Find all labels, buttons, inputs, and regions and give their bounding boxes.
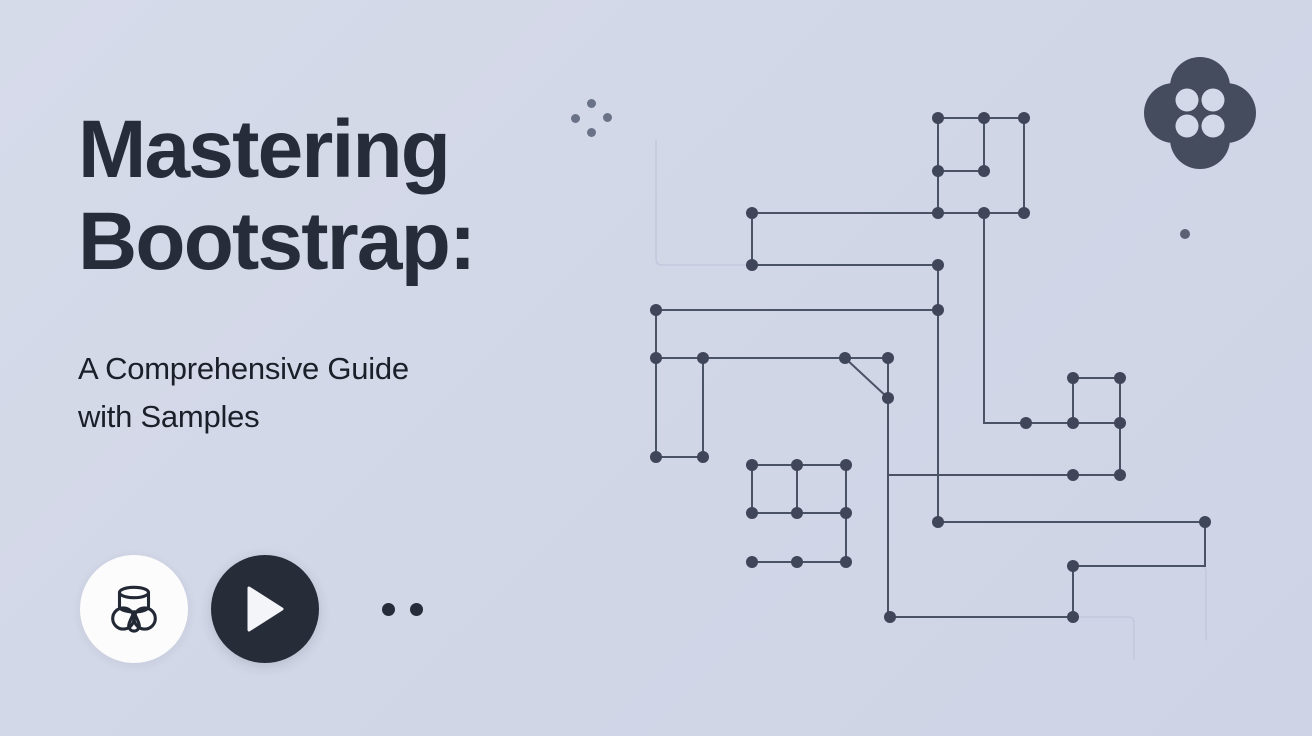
hero-text-block: Mastering Bootstrap: — [78, 104, 638, 288]
circuit-node — [791, 459, 803, 471]
circuit-node — [746, 556, 758, 568]
circuit-edge — [1073, 522, 1205, 566]
play-icon — [243, 585, 287, 633]
circuit-node — [932, 207, 944, 219]
circuit-node — [840, 507, 852, 519]
circuit-node — [697, 352, 709, 364]
pager-dot-2[interactable] — [410, 603, 423, 616]
circuit-edges — [656, 118, 1205, 617]
circuit-node — [1018, 207, 1030, 219]
sparkle-dot-bottom — [587, 128, 596, 137]
circuit-diagram — [630, 80, 1250, 660]
sparkle-dot-left — [571, 114, 580, 123]
circuit-node — [791, 556, 803, 568]
circuit-node — [978, 112, 990, 124]
circuit-node — [791, 507, 803, 519]
pager-dots[interactable] — [382, 603, 423, 616]
circuit-node — [1067, 372, 1079, 384]
circuit-node — [1067, 611, 1079, 623]
sparkle-dot-top — [587, 99, 596, 108]
circuit-edge — [888, 358, 1073, 475]
circuit-node — [1067, 469, 1079, 481]
circuit-node — [650, 352, 662, 364]
circuit-edge — [984, 213, 1026, 423]
sparkle-dots-cluster — [560, 90, 624, 154]
circuit-node — [932, 112, 944, 124]
circuit-node — [1199, 516, 1211, 528]
circuit-node — [746, 459, 758, 471]
sparkle-dot-right — [603, 113, 612, 122]
bootstrap-boot-icon — [102, 577, 166, 641]
circuit-node — [746, 507, 758, 519]
circuit-node — [840, 459, 852, 471]
circuit-node — [650, 304, 662, 316]
circuit-node — [650, 451, 662, 463]
circuit-node — [1018, 112, 1030, 124]
faint-traces — [656, 140, 1206, 660]
circuit-node — [1067, 417, 1079, 429]
circuit-node — [1114, 372, 1126, 384]
circuit-node — [932, 259, 944, 271]
circuit-node — [932, 304, 944, 316]
circuit-node — [884, 611, 896, 623]
circuit-nodes — [650, 112, 1211, 623]
badge-row — [80, 554, 423, 664]
circuit-node — [882, 392, 894, 404]
circuit-node — [978, 165, 990, 177]
circuit-node — [1114, 417, 1126, 429]
circuit-node — [746, 207, 758, 219]
poster-canvas: Mastering Bootstrap: A Comprehensive Gui… — [0, 0, 1312, 736]
play-button[interactable] — [211, 555, 319, 663]
page-subtitle: A Comprehensive Guide with Samples — [78, 345, 598, 441]
circuit-node — [932, 165, 944, 177]
pager-dot-1[interactable] — [382, 603, 395, 616]
circuit-node — [840, 556, 852, 568]
brand-logo-button[interactable] — [80, 555, 188, 663]
page-title: Mastering Bootstrap: — [78, 104, 638, 288]
circuit-node — [978, 207, 990, 219]
circuit-node — [932, 516, 944, 528]
circuit-node — [697, 451, 709, 463]
circuit-node — [882, 352, 894, 364]
circuit-node — [1067, 560, 1079, 572]
circuit-edge — [845, 358, 888, 398]
circuit-node — [1114, 469, 1126, 481]
circuit-node — [839, 352, 851, 364]
circuit-node — [1020, 417, 1032, 429]
circuit-node — [746, 259, 758, 271]
